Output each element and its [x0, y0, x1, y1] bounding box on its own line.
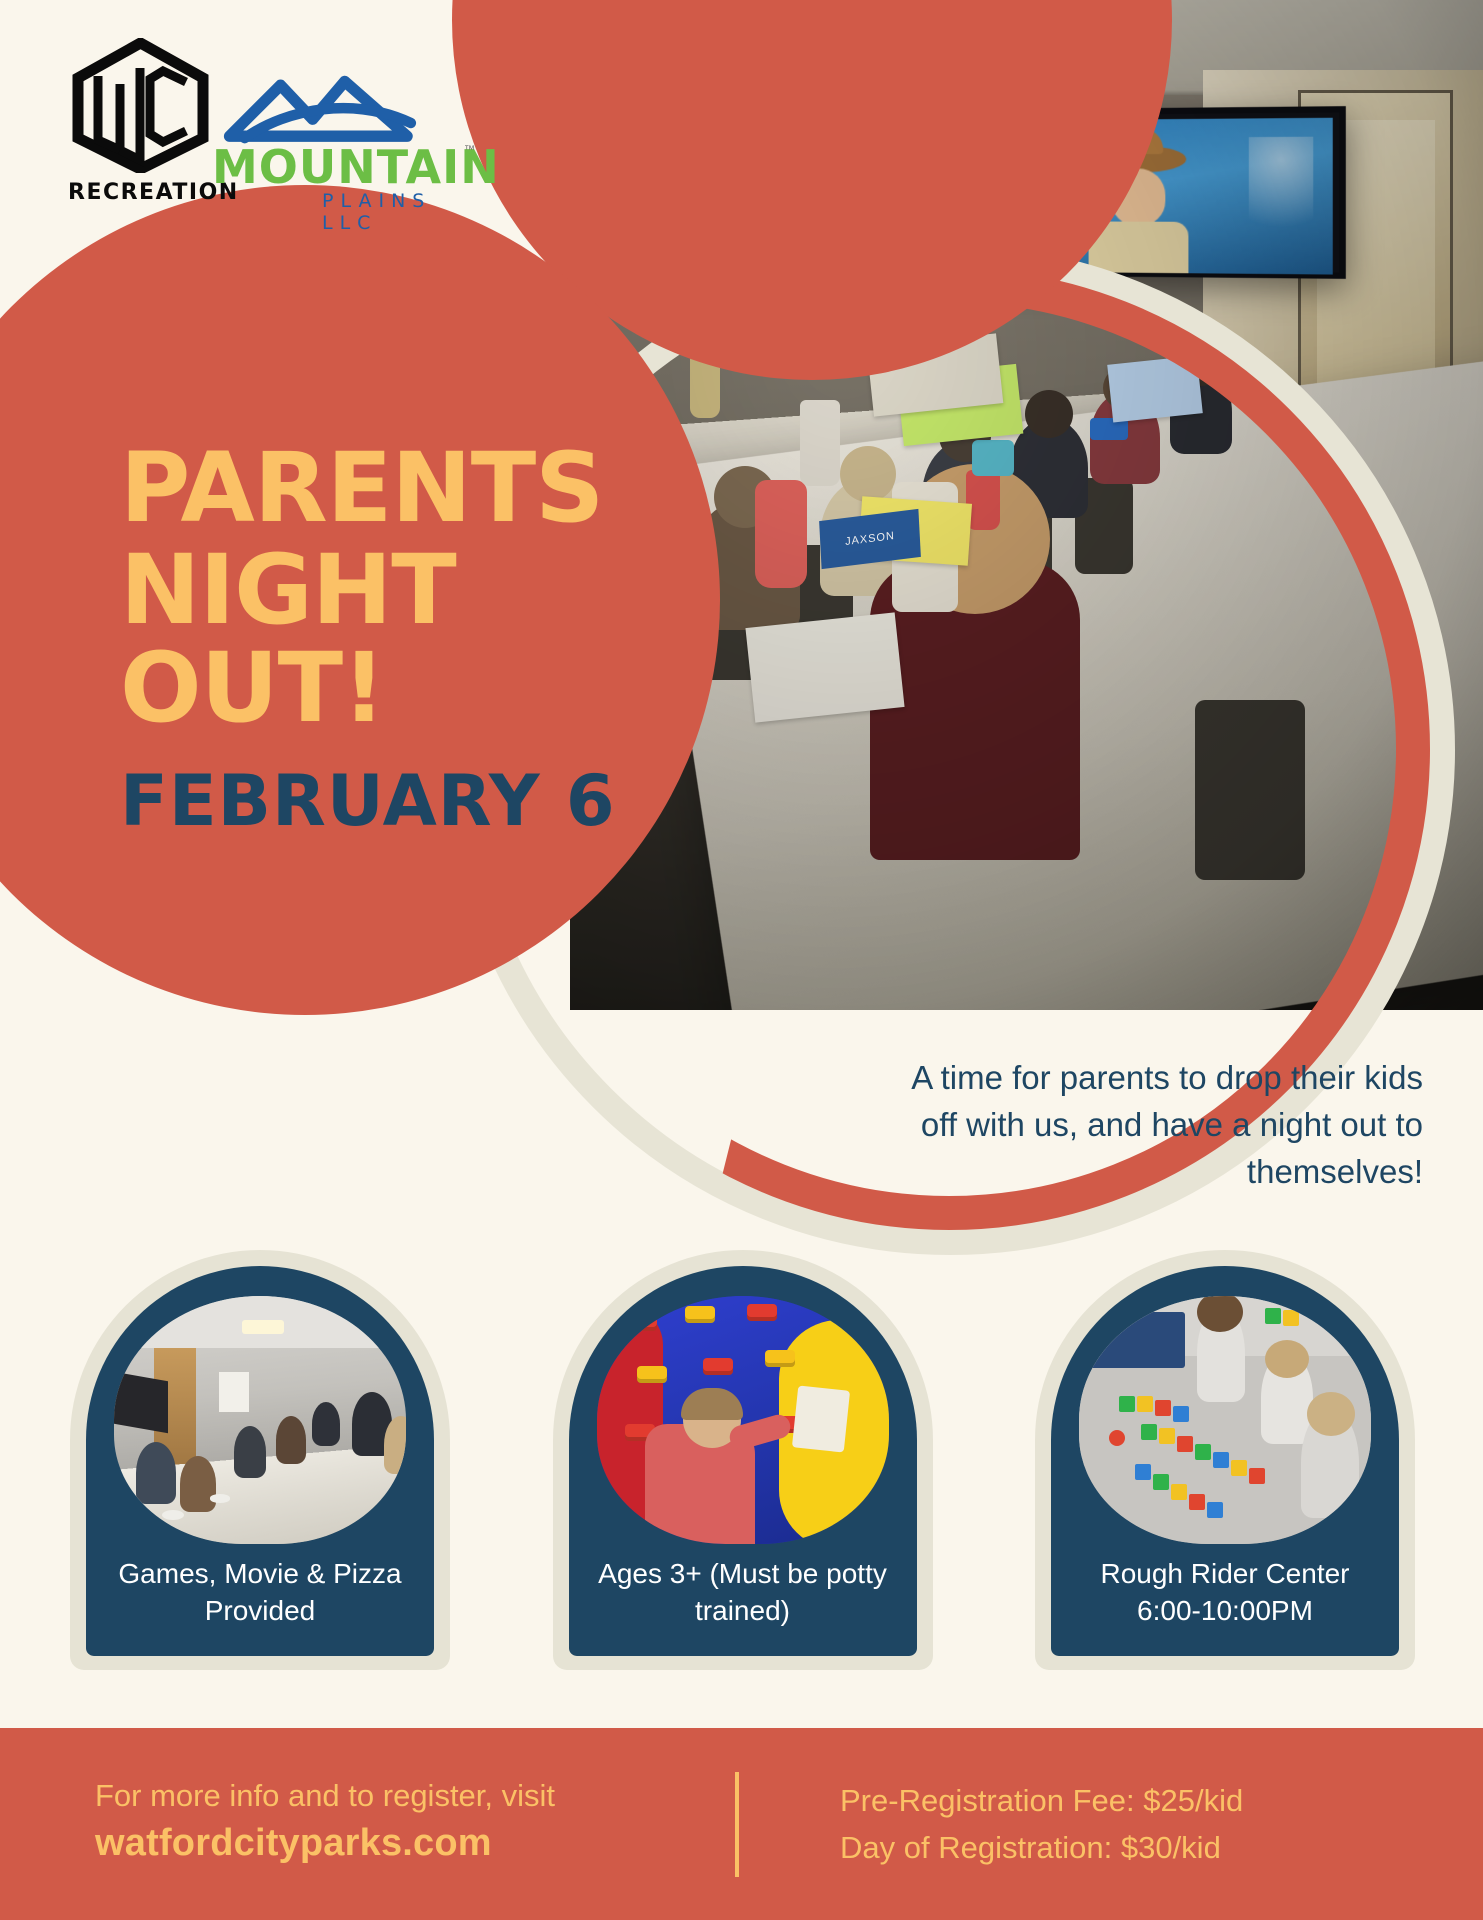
day-of-registration-fee: Day of Registration: $30/kid	[840, 1825, 1400, 1872]
event-description: A time for parents to drop their kids of…	[878, 1055, 1423, 1196]
footer-bar: For more info and to register, visit wat…	[0, 1728, 1483, 1920]
pre-registration-fee: Pre-Registration Fee: $25/kid	[840, 1778, 1400, 1825]
mountain-plains-name: MOUNTAIN	[212, 144, 462, 190]
flyer-poster: JAXSON RECREATION MOUNTAIN ™ PLAINS LLC	[0, 0, 1483, 1920]
feature-card: Games, Movie & Pizza Provided	[70, 1250, 450, 1670]
feature-card: Rough Rider Center 6:00-10:00PM	[1035, 1250, 1415, 1670]
wc-wordmark: RECREATION	[68, 180, 213, 205]
headline-block: PARENTS NIGHT OUT! FEBRUARY 6	[120, 440, 740, 842]
mountain-plains-sub: PLAINS LLC	[322, 190, 482, 234]
card-caption: Games, Movie & Pizza Provided	[100, 1556, 420, 1630]
logo-row: RECREATION MOUNTAIN ™ PLAINS LLC	[0, 0, 560, 250]
event-date: FEBRUARY 6	[120, 760, 740, 842]
footer-right: Pre-Registration Fee: $25/kid Day of Reg…	[840, 1778, 1400, 1871]
title-line-2: NIGHT OUT!	[120, 542, 740, 738]
footer-divider	[735, 1772, 739, 1877]
feature-card: Ages 3+ (Must be potty trained)	[553, 1250, 933, 1670]
footer-info-line: For more info and to register, visit	[95, 1776, 615, 1816]
mountain-icon	[222, 68, 477, 144]
card-caption: Rough Rider Center 6:00-10:00PM	[1065, 1556, 1385, 1630]
card-body: Games, Movie & Pizza Provided	[86, 1266, 434, 1656]
wc-recreation-logo: RECREATION	[68, 38, 213, 208]
card-photo-dining	[114, 1296, 406, 1544]
card-caption: Ages 3+ (Must be potty trained)	[583, 1556, 903, 1630]
card-body: Rough Rider Center 6:00-10:00PM	[1051, 1266, 1399, 1656]
wc-hex-icon	[68, 38, 213, 173]
title-line-1: PARENTS	[120, 432, 603, 544]
footer-left: For more info and to register, visit wat…	[95, 1776, 615, 1865]
page-title: PARENTS NIGHT OUT!	[120, 440, 740, 738]
mountain-plains-logo: MOUNTAIN ™ PLAINS LLC	[212, 72, 482, 207]
feature-card-row: Games, Movie & Pizza Provided	[70, 1250, 1415, 1710]
trademark-symbol: ™	[464, 144, 475, 156]
card-photo-climbing	[597, 1296, 889, 1544]
card-body: Ages 3+ (Must be potty trained)	[569, 1266, 917, 1656]
footer-website-link[interactable]: watfordcityparks.com	[95, 1822, 615, 1865]
card-photo-blocks	[1079, 1296, 1371, 1544]
